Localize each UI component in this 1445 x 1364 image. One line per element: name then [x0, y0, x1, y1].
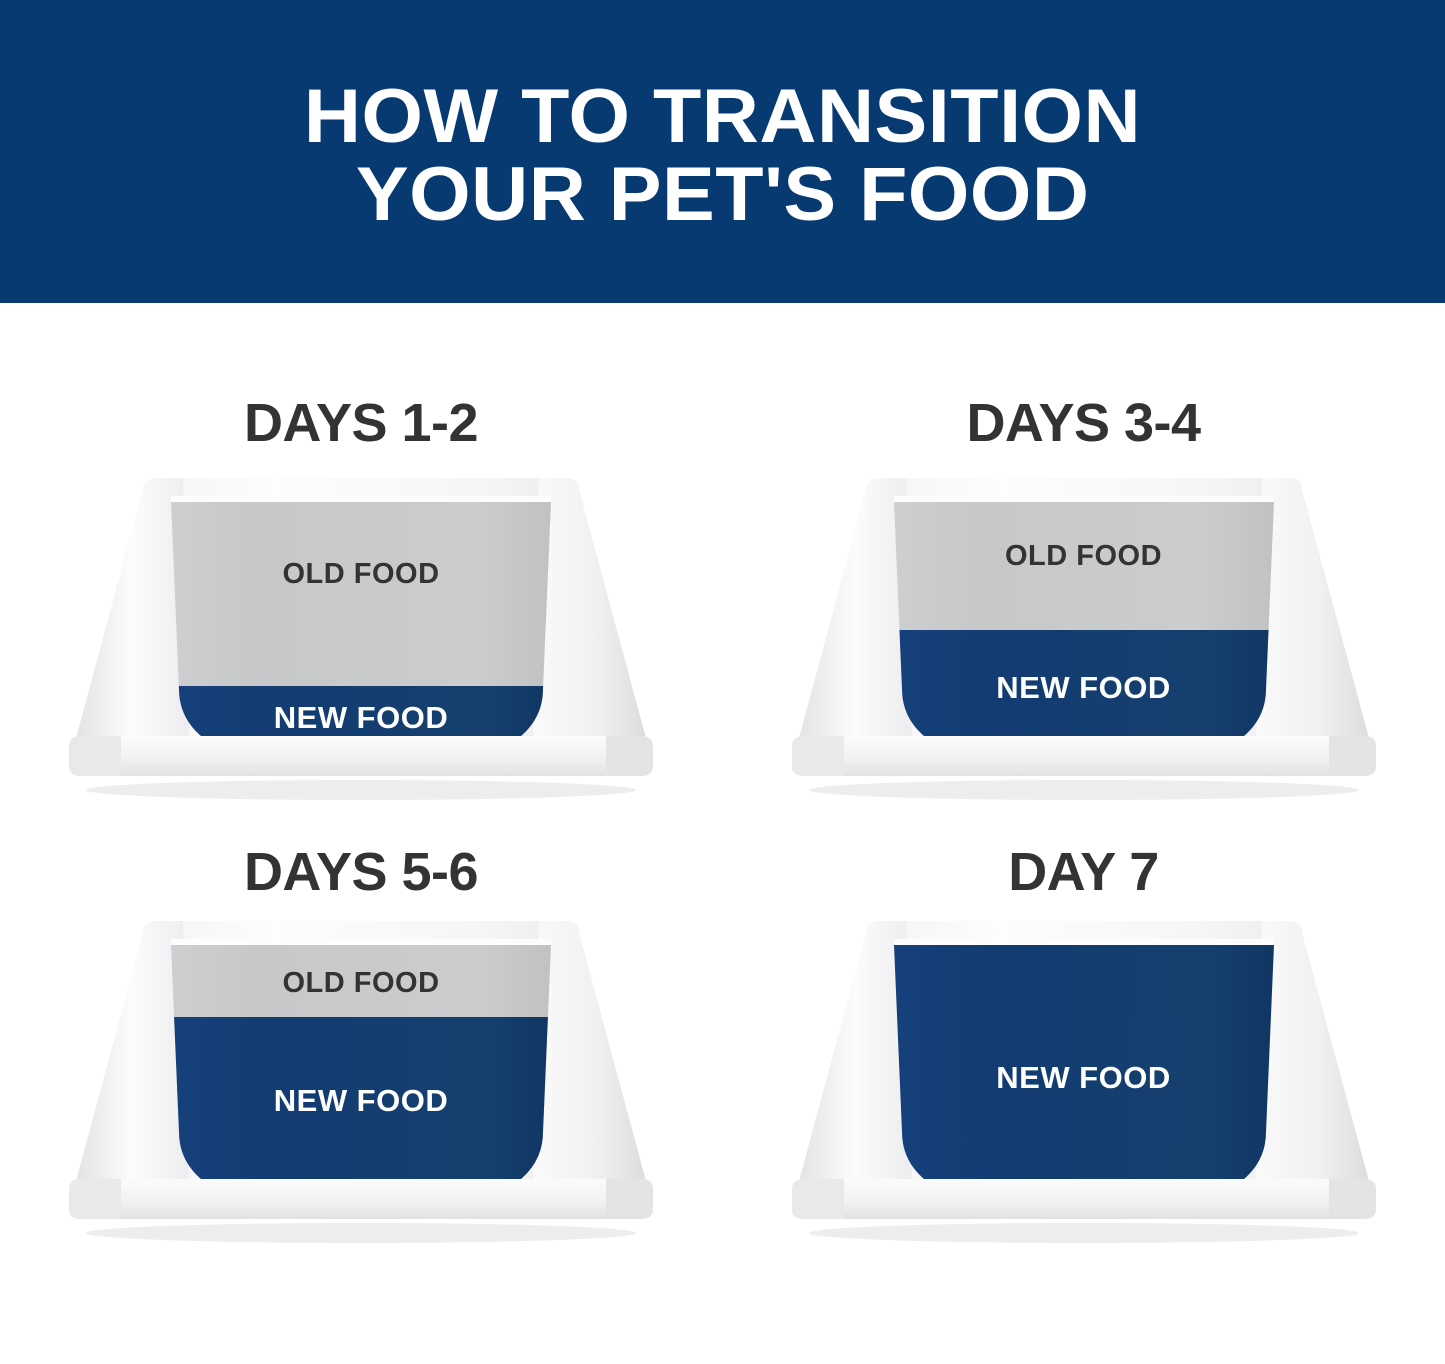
step-1-bowl: OLD FOOD NEW FOOD — [51, 474, 671, 804]
step-4-bowl: NEW FOOD — [774, 917, 1394, 1247]
step-3-day-label: DAYS 5-6 — [244, 845, 478, 899]
transition-step-1: DAYS 1-2 — [0, 303, 722, 833]
bowl-illustration-3 — [51, 917, 671, 1247]
header-title-line-1: HOW TO TRANSITION — [304, 82, 1141, 152]
transition-step-4: DAY 7 NEW FOOD — [722, 833, 1445, 1364]
bowl-illustration-2 — [774, 474, 1394, 804]
step-1-day-label: DAYS 1-2 — [244, 396, 478, 450]
step-4-day-label: DAY 7 — [1008, 845, 1159, 899]
header-title-line-2: YOUR PET'S FOOD — [356, 160, 1090, 230]
step-2-bowl: OLD FOOD NEW FOOD — [774, 474, 1394, 804]
step-2-day-label: DAYS 3-4 — [966, 396, 1200, 450]
page-header-banner: HOW TO TRANSITION YOUR PET'S FOOD — [0, 0, 1445, 303]
bowl-illustration-4 — [774, 917, 1394, 1247]
transition-steps-grid: DAYS 1-2 — [0, 303, 1445, 1364]
step-3-bowl: OLD FOOD NEW FOOD — [51, 917, 671, 1247]
transition-step-3: DAYS 5-6 O — [0, 833, 722, 1364]
transition-step-2: DAYS 3-4 O — [722, 303, 1445, 833]
bowl-illustration-1 — [51, 474, 671, 804]
